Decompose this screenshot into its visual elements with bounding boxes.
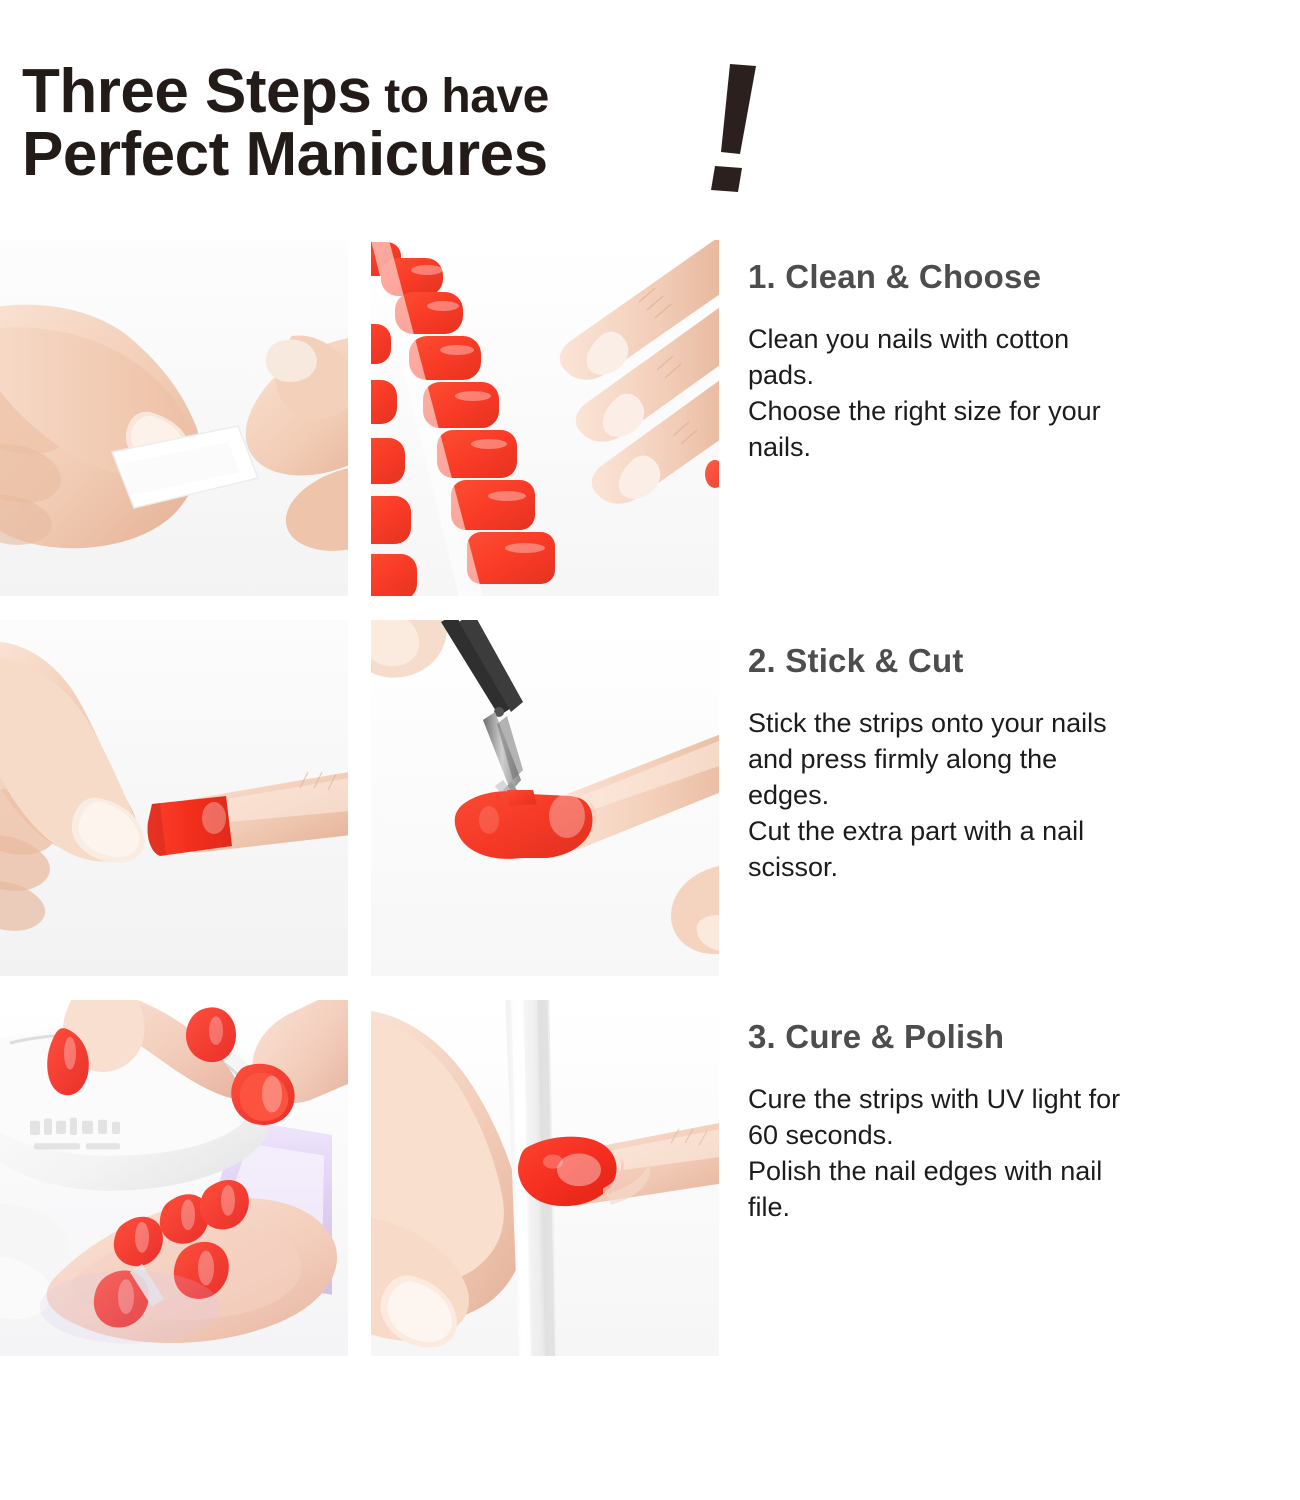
step-1-body-line-4: nails.	[748, 430, 1300, 466]
step-1-body: Clean you nails with cotton pads. Choose…	[748, 322, 1300, 466]
photo-file-nail-edges	[371, 1000, 719, 1356]
step-2-body-line-4: Cut the extra part with a nail	[748, 814, 1300, 850]
page-title-line-2-text: Perfect Manicures	[22, 120, 548, 189]
step-2-body-line-1: Stick the strips onto your nails	[748, 706, 1300, 742]
step-3-body-line-3: Polish the nail edges with nail	[748, 1154, 1300, 1190]
step-2-heading: 2. Stick & Cut	[748, 642, 1300, 680]
step-2-body-line-3: edges.	[748, 778, 1300, 814]
step-1-body-line-2: pads.	[748, 358, 1300, 394]
steps-grid: 1. Clean & Choose Clean you nails with c…	[0, 240, 1300, 1380]
step-3-heading: 3. Cure & Polish	[748, 1018, 1300, 1056]
step-1-text: 1. Clean & Choose Clean you nails with c…	[748, 258, 1300, 466]
photo-press-strip-onto-nail	[0, 620, 348, 976]
step-row-2: 2. Stick & Cut Stick the strips onto you…	[0, 620, 1300, 1000]
page-title-line-1: Three Steps to have	[22, 60, 549, 123]
page-title-line-2: Perfect Manicures	[22, 123, 549, 186]
step-2-text: 2. Stick & Cut Stick the strips onto you…	[748, 642, 1300, 886]
header: Three Steps to have Perfect Manicures	[0, 0, 1300, 225]
step-3-text: 3. Cure & Polish Cure the strips with UV…	[748, 1018, 1300, 1226]
step-2-body-line-2: and press firmly along the	[748, 742, 1300, 778]
step-3-body: Cure the strips with UV light for 60 sec…	[748, 1082, 1300, 1226]
step-2-body-line-5: scissor.	[748, 850, 1300, 886]
step-2-body: Stick the strips onto your nails and pre…	[748, 706, 1300, 886]
step-row-3: 3. Cure & Polish Cure the strips with UV…	[0, 1000, 1300, 1380]
exclamation-mark-icon	[700, 62, 770, 192]
page-title-strong: Three Steps	[22, 57, 371, 126]
photo-uv-lamp-curing	[0, 1000, 348, 1356]
step-1-body-line-1: Clean you nails with cotton	[748, 322, 1300, 358]
step-3-body-line-2: 60 seconds.	[748, 1118, 1300, 1154]
step-3-body-line-1: Cure the strips with UV light for	[748, 1082, 1300, 1118]
photo-clean-nail-with-cotton-pad	[0, 240, 348, 596]
step-row-1: 1. Clean & Choose Clean you nails with c…	[0, 240, 1300, 620]
step-3-body-line-4: file.	[748, 1190, 1300, 1226]
photo-cut-extra-with-scissors	[371, 620, 719, 976]
photo-red-nail-strips-sheet	[371, 240, 719, 596]
page-title: Three Steps to have Perfect Manicures	[22, 60, 549, 186]
step-1-body-line-3: Choose the right size for your	[748, 394, 1300, 430]
step-1-heading: 1. Clean & Choose	[748, 258, 1300, 296]
page-title-light: to have	[371, 70, 548, 123]
